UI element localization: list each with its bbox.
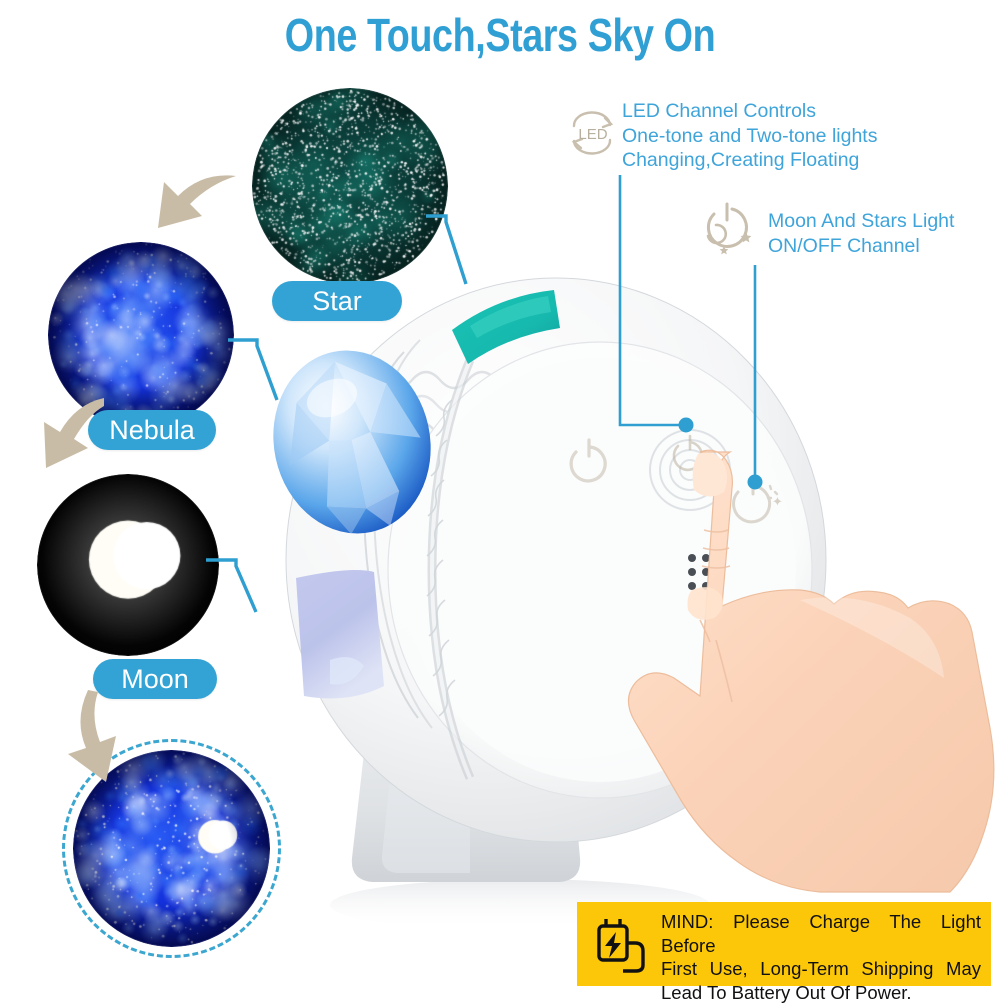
callout-leaders xyxy=(0,0,1000,1000)
warning-line-2: First Use, Long-Term Shipping May xyxy=(661,957,981,981)
infographic-canvas: One Touch,Stars Sky On xyxy=(0,0,1000,1000)
warning-line-1: MIND: Please Charge The Light Before xyxy=(661,910,981,957)
warning-line-3: Lead To Battery Out Of Power. xyxy=(661,981,981,1004)
warning-banner: MIND: Please Charge The Light Before Fir… xyxy=(577,902,991,986)
callout-dot-led xyxy=(679,418,694,433)
callout-dot-power xyxy=(748,475,763,490)
battery-charge-icon xyxy=(593,914,655,974)
warning-text: MIND: Please Charge The Light Before Fir… xyxy=(661,910,981,1004)
